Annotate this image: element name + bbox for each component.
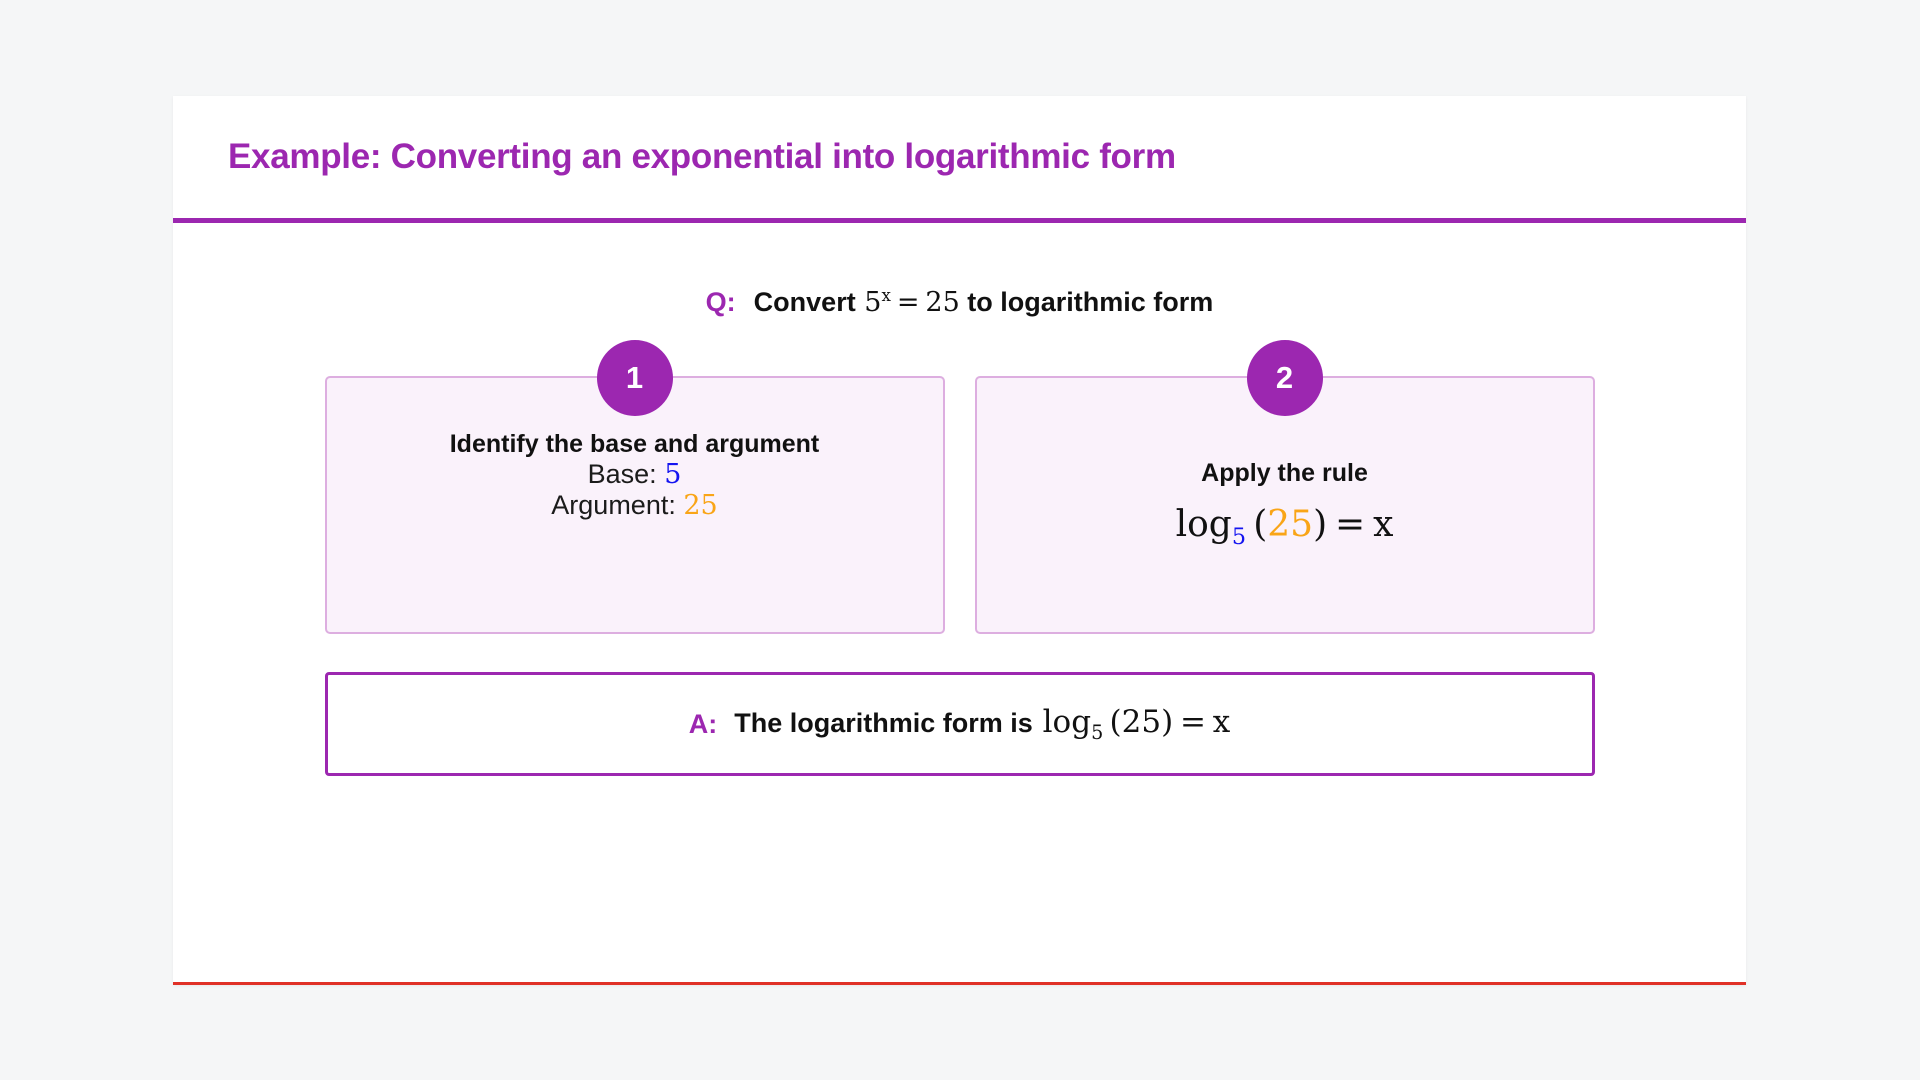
answer-formula-argument: 25 bbox=[1122, 704, 1161, 740]
formula-fn: log bbox=[1176, 504, 1232, 545]
expression-base: 5 bbox=[864, 287, 881, 318]
question-prefix: Convert bbox=[754, 287, 856, 317]
answer-tag: A: bbox=[689, 709, 718, 740]
formula-equals: = bbox=[1335, 504, 1365, 545]
answer-formula-result: x bbox=[1213, 704, 1230, 740]
answer-formula-equals: = bbox=[1180, 704, 1206, 740]
lesson-panel: Example: Converting an exponential into … bbox=[173, 96, 1746, 985]
answer-formula: log5 (25)=x bbox=[1033, 704, 1230, 740]
step-line-argument: Argument: 25 bbox=[551, 490, 717, 521]
formula-open-paren: ( bbox=[1253, 504, 1267, 545]
step-number-2: 2 bbox=[1276, 360, 1293, 396]
question-text: Convert 5x=25 to logarithmic form bbox=[754, 285, 1214, 318]
base-value: 5 bbox=[664, 459, 681, 490]
step-card-2[interactable]: 2 Apply the rule log5 (25)=x bbox=[975, 376, 1595, 634]
answer-formula-close-paren: ) bbox=[1161, 704, 1173, 740]
page-title: Example: Converting an exponential into … bbox=[228, 137, 1176, 177]
formula-result: x bbox=[1373, 504, 1393, 545]
question-tag: Q: bbox=[706, 287, 736, 318]
expression-equals: = bbox=[897, 287, 920, 318]
step-line-base: Base: 5 bbox=[588, 459, 682, 490]
step-card-1[interactable]: 1 Identify the base and argument Base: 5… bbox=[325, 376, 945, 634]
formula-subscript: 5 bbox=[1232, 525, 1246, 551]
formula-close-paren: ) bbox=[1313, 504, 1327, 545]
panel-header: Example: Converting an exponential into … bbox=[173, 96, 1746, 218]
argument-label: Argument: bbox=[551, 490, 676, 520]
question-expression: 5x=25 bbox=[856, 287, 960, 318]
answer-formula-subscript: 5 bbox=[1091, 721, 1103, 744]
answer-sentence: The logarithmic form is bbox=[734, 708, 1033, 738]
question-row: Q: Convert 5x=25 to logarithmic form bbox=[173, 285, 1746, 318]
step-formula: log5 (25)=x bbox=[1176, 504, 1394, 550]
answer-bar[interactable]: A: The logarithmic form is log5 (25)=x bbox=[325, 672, 1595, 776]
step-number-1: 1 bbox=[626, 360, 643, 396]
page-root: Example: Converting an exponential into … bbox=[0, 0, 1920, 1080]
question-suffix: to logarithmic form bbox=[967, 287, 1213, 317]
answer-text: The logarithmic form is log5 (25)=x bbox=[734, 704, 1230, 744]
expression-exponent: x bbox=[881, 285, 890, 305]
panel-body: Q: Convert 5x=25 to logarithmic form 1 I… bbox=[173, 285, 1746, 776]
step-badge-1: 1 bbox=[597, 340, 673, 416]
base-label: Base: bbox=[588, 459, 657, 489]
step-heading-2: Apply the rule bbox=[1201, 459, 1368, 488]
answer-formula-open-paren: ( bbox=[1110, 704, 1122, 740]
answer-formula-fn: log bbox=[1043, 704, 1091, 740]
argument-value: 25 bbox=[683, 490, 717, 521]
step-heading-1: Identify the base and argument bbox=[450, 430, 820, 459]
formula-argument: 25 bbox=[1267, 504, 1313, 545]
step-badge-2: 2 bbox=[1247, 340, 1323, 416]
steps-container: 1 Identify the base and argument Base: 5… bbox=[173, 376, 1746, 634]
expression-result: 25 bbox=[925, 287, 959, 318]
title-divider bbox=[173, 218, 1746, 223]
